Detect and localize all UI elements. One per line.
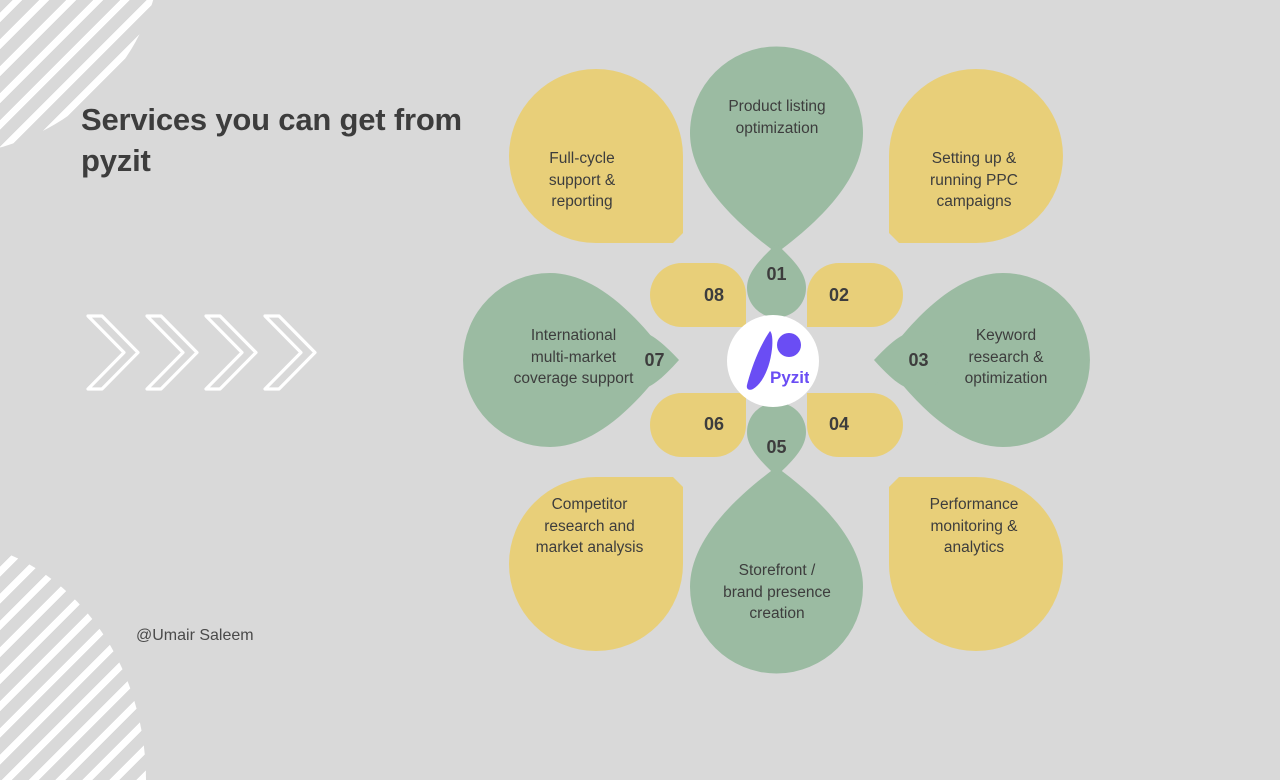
badge-shape-05 <box>747 403 806 477</box>
badge-shape-07 <box>606 331 680 390</box>
badge-shape-04 <box>807 393 903 457</box>
services-flower-diagram: Product listing optimization Setting up … <box>436 0 1136 720</box>
petal-04 <box>889 477 1063 651</box>
petal-08 <box>509 69 683 243</box>
striped-corner-bottom-left <box>0 540 146 780</box>
badge-shape-06 <box>650 393 746 457</box>
double-chevron-right-row-icon <box>80 310 320 395</box>
petal-06 <box>509 477 683 651</box>
petal-01 <box>690 47 863 254</box>
petal-02 <box>889 69 1063 245</box>
badge-shape-03 <box>874 331 948 390</box>
pyzit-mark-icon <box>747 331 773 390</box>
author-handle: @Umair Saleem <box>136 627 254 645</box>
badge-shape-02 <box>807 263 903 327</box>
petal-05 <box>690 467 863 674</box>
pyzit-wordmark: Pyzit <box>770 368 809 387</box>
pyzit-logo: Pyzit <box>727 315 819 407</box>
pyzit-dot-icon <box>777 333 801 357</box>
badge-shape-01 <box>747 244 806 318</box>
badge-shape-08 <box>650 263 746 327</box>
